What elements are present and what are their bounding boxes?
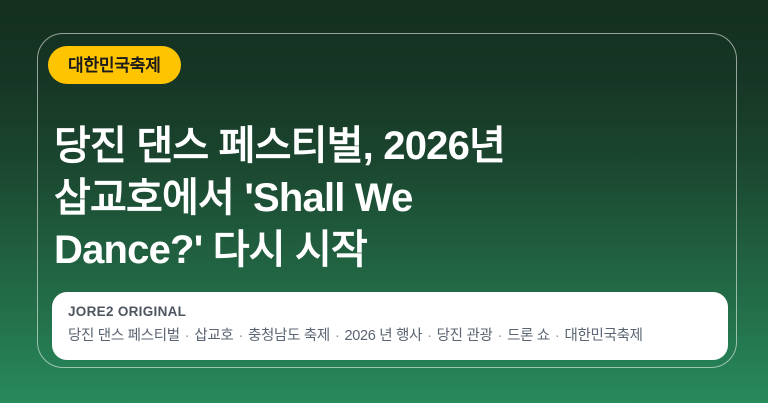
tag-separator: · <box>493 328 508 344</box>
tag-item[interactable]: 충청남도 축제 <box>248 328 330 344</box>
tag-list: 당진 댄스 페스티벌·삽교호·충청남도 축제·2026 년 행사·당진 관광·드… <box>68 325 728 347</box>
headline: 당진 댄스 페스티벌, 2026년 삽교호에서 'Shall We Dance?… <box>54 120 654 276</box>
tag-item[interactable]: 드론 쇼 <box>507 328 550 344</box>
tag-separator: · <box>330 328 345 344</box>
tag-separator: · <box>422 328 437 344</box>
tag-item[interactable]: 당진 관광 <box>437 328 493 344</box>
tag-item[interactable]: 당진 댄스 페스티벌 <box>68 328 180 344</box>
source-card: JORE2 ORIGINAL 당진 댄스 페스티벌·삽교호·충청남도 축제·20… <box>52 292 728 360</box>
source-label: JORE2 ORIGINAL <box>68 303 728 321</box>
festival-card-stage: 대한민국축제 당진 댄스 페스티벌, 2026년 삽교호에서 'Shall We… <box>0 0 768 403</box>
category-badge[interactable]: 대한민국축제 <box>48 46 181 84</box>
tag-separator: · <box>180 328 195 344</box>
tag-separator: · <box>233 328 248 344</box>
category-badge-label: 대한민국축제 <box>68 57 161 74</box>
tag-item[interactable]: 대한민국축제 <box>564 328 642 344</box>
tag-item[interactable]: 2026 년 행사 <box>344 328 422 344</box>
tag-separator: · <box>550 328 565 344</box>
headline-line-3: Dance?' 다시 시작 <box>54 224 654 276</box>
headline-line-1: 당진 댄스 페스티벌, 2026년 <box>54 120 654 172</box>
headline-line-2: 삽교호에서 'Shall We <box>54 172 654 224</box>
tag-item[interactable]: 삽교호 <box>194 328 233 344</box>
